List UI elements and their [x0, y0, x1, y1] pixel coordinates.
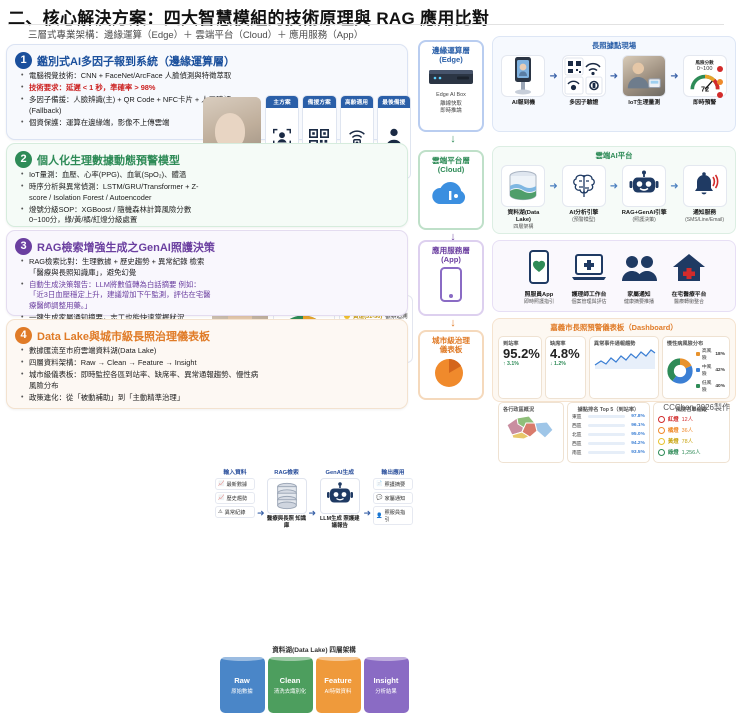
flow-arrow-icon: ➜ [309, 508, 317, 519]
kpi-delta: ↑ 3.1% [503, 361, 537, 367]
flow-arrow-icon: ➜ [549, 181, 557, 192]
bullet-dot-icon: • [21, 71, 29, 82]
cloud-step-sub: (SMS/Line/Email) [685, 217, 724, 223]
section-card-4: 4 Data Lake與城市級長照治理儀表板 •數據匯流至市府雲端資料湖(Dat… [6, 319, 408, 409]
brain-icon [562, 165, 606, 207]
rag-input-item: 📈最新數據 [215, 478, 255, 490]
app-item-sub: 即時照護指引 [524, 299, 554, 305]
app-item-sub: 個案管理與評估 [571, 299, 606, 305]
flow-arrow-icon: ➜ [670, 181, 678, 192]
pie-chart-icon [432, 357, 470, 389]
kpi-value: 95.2% [503, 347, 537, 361]
arrow-down-edge-to-cloud-icon: ↓ [448, 133, 458, 145]
rag-flow-diagram: 輸入資料 📈最新數據 📈歷史趨勢 ⚠異常紀錄 ➜ RAG檢索 [215, 467, 413, 541]
section-title-1: 鑑別式AI多因子報到系統（邊緣運算層） [37, 53, 235, 69]
cylinder-top [364, 654, 409, 661]
list-item: •電腦視覺技術：CNN + FaceNet/ArcFace 人臉偵測與特徵萃取 [21, 71, 259, 82]
bullet-dot-icon: • [21, 182, 29, 203]
cloud-step-sub: (預警模型) [572, 217, 595, 223]
panel-cloud-platform: 雲端AI平台 資料湖(Data Lake) 四層架構 ➜ [492, 146, 736, 234]
light-red-icon [717, 66, 723, 72]
table-row: 東區97.8% [572, 413, 645, 420]
table-row: 西區94.2% [572, 440, 645, 447]
cloud-step-datalake: 資料湖(Data Lake) 四層架構 [499, 165, 547, 230]
section-title-3: RAG檢索增強生成之GenAI照護決策 [37, 239, 215, 255]
bullet-dot-icon: • [21, 393, 29, 404]
edge-step-caption: 即時預警 [693, 100, 716, 107]
section-title-2: 個人化生理數據動態預警模型 [37, 152, 180, 168]
cloud-step-ai: AI分析引擎 (預警模型) [560, 165, 608, 223]
laptop-medical-icon [567, 247, 611, 289]
table-row: 北區95.0% [572, 431, 645, 438]
chart-icon: 📈 [218, 481, 224, 487]
svg-text:72: 72 [701, 85, 709, 92]
bullet-dot-icon: • [21, 370, 29, 391]
donut-legend-row: 高風險18% [696, 347, 725, 361]
light-orange-icon [717, 79, 723, 85]
edge-device-desc: 離線快取 即時推論 [440, 101, 462, 115]
bullet-dot-icon: • [21, 346, 29, 357]
cylinder-top [268, 654, 313, 661]
donut-legend-row: 低風險40% [696, 379, 725, 393]
cloud-flow-steps: 資料湖(Data Lake) 四層架構 ➜ AI分析引擎 (預警模型) ➜ [493, 161, 735, 230]
ranking-title: 據點排名 Top 5（到站率） [572, 406, 645, 413]
list-item: •時序分析與異常偵測：LSTM/GRU/Transformer + Z-scor… [21, 182, 213, 203]
rag-input-column: 輸入資料 📈最新數據 📈歷史趨勢 ⚠異常紀錄 [215, 467, 255, 520]
rag-generate-caption: LLM生成 照護建議報告 [318, 516, 361, 530]
trend-title: 異常事件通報趨勢 [594, 340, 654, 347]
section-number-2: 2 [15, 151, 32, 168]
app-item-nurse: 護理師工作台 個案管理與評估 [565, 247, 613, 305]
district-map-card: 各行政區概況 [498, 402, 564, 463]
section-bullets-4: •數據匯流至市府雲端資料湖(Data Lake) •四層資料架構：Raw → C… [21, 346, 259, 405]
layer-subtitle-edge: (Edge) [439, 55, 463, 64]
rag-input-title: 輸入資料 [223, 467, 246, 476]
robot-icon [622, 165, 666, 207]
list-item: 橘燈36人 [658, 426, 725, 434]
edge-ai-box-icon [427, 66, 475, 88]
bullet-text: RAG檢索比對：生理數據 + 歷史趨勢 + 異常紀錄 檢索「醫療與長照知識庫」，… [29, 257, 211, 278]
section-bullets-3: •RAG檢索比對：生理數據 + 歷史趨勢 + 異常紀錄 檢索「醫療與長照知識庫」… [21, 257, 211, 325]
light-yellow-icon [658, 438, 665, 445]
section-number-3: 3 [15, 238, 32, 255]
edge-step-caption: AI報到機 [512, 100, 535, 107]
rag-input-item: ⚠異常紀錄 [215, 506, 255, 518]
list-item: •技術要求：延遲 < 1 秒，準確率 > 98% [21, 83, 259, 94]
bullet-text: 技術要求：延遲 < 1 秒，準確率 > 98% [29, 83, 259, 94]
list-item: •政策進化：從「被動補助」到「主動精準治理」 [21, 393, 259, 404]
method-tag: 主方案 [266, 96, 298, 108]
list-item: •四層資料架構：Raw → Clean → Feature → Insight [21, 358, 259, 369]
section-bullets-2: •IoT量測：血壓、心率(PPG)、血氧(SpO₂)、體溫 •時序分析與異常偵測… [21, 170, 213, 227]
edge-step-alert: 風險分數 0~100 72 即時預警 [681, 55, 729, 107]
stage-name: Raw [234, 676, 250, 685]
list-item: 黃燈78人 [658, 437, 725, 445]
cloud-step-notify: 通知服務 (SMS/Line/Email) [681, 165, 729, 223]
edge-step-caption: 多因子驗證 [569, 100, 598, 107]
list-item: •IoT量測：血壓、心率(PPG)、血氧(SpO₂)、體溫 [21, 170, 213, 181]
message-icon: 💬 [376, 495, 382, 501]
qr-nfc-icon [562, 55, 606, 97]
ranking-card: 據點排名 Top 5（到站率） 東區97.8% 西區96.1% 北區95.0% … [567, 402, 650, 463]
layer-title-edge: 邊緣運算層 [432, 46, 470, 55]
section-card-1: 1 鑑別式AI多因子報到系統（邊緣運算層） •電腦視覺技術：CNN + Face… [6, 44, 408, 140]
layer-box-app: 應用服務層 (App) [418, 240, 484, 316]
layer-title-app: 應用服務層 [432, 246, 470, 255]
data-lake-diagram: 資料湖(Data Lake) 四層架構 Raw 原始數據 Clean 清洗去識別… [215, 644, 413, 724]
bullet-text: 自動生成決策報告：LLM將數值轉為白話摘要 例如：「近3日血壓穩定上升，建議增加… [29, 280, 211, 312]
bullet-dot-icon: • [21, 205, 29, 226]
alert-icon: ⚠ [218, 509, 223, 515]
layer-box-dashboard: 城市級治理 儀表板 [418, 330, 484, 400]
table-row: 西區96.1% [572, 422, 645, 429]
edge-device-label: Edge AI Box [436, 92, 466, 99]
list-item: •燈號分級SOP：XGBoost / 隨機森林計算風險分數 0~100分，綠/黃… [21, 205, 213, 226]
document-icon: 📄 [376, 481, 382, 487]
flow-arrow-icon: ➜ [610, 71, 618, 82]
page-title: 二、核心解決方案：四大智慧模組的技術原理與 RAG 應用比對 [8, 4, 732, 29]
list-item: •城市級儀表板：即時監控各區到站率、缺席率、異常通報趨勢、慢性病風險分布 [21, 370, 259, 391]
cloud-step-caption: 資料湖(Data Lake) [499, 210, 547, 224]
donut-chart-icon [667, 358, 693, 384]
stage-desc: 分析結果 [375, 687, 397, 695]
list-item: 紅燈12人 [658, 415, 725, 423]
bullet-text: 政策進化：從「被動補助」到「主動精準治理」 [29, 393, 259, 404]
flow-arrow-icon: ➜ [257, 508, 265, 519]
cloud-step-caption: 通知服務 [693, 210, 716, 217]
layer-subtitle-dashboard: 儀表板 [440, 345, 463, 354]
stage-name: Insight [374, 676, 399, 685]
list-item: •RAG檢索比對：生理數據 + 歷史趨勢 + 異常紀錄 檢索「醫療與長照知識庫」… [21, 257, 211, 278]
edge-step-caption: IoT生理量測 [628, 100, 660, 107]
edge-step-multifactor: 多因子驗證 [560, 55, 608, 107]
family-icon [617, 247, 661, 289]
light-red2-icon [717, 92, 723, 98]
alert-lights [717, 66, 723, 98]
flow-arrow-icon: ➜ [363, 508, 371, 519]
rag-retrieve-column: RAG檢索 醫療與長照 知識庫 [267, 467, 307, 530]
cloud-icon [428, 178, 474, 210]
bell-icon [683, 165, 727, 207]
edge-step-kiosk: AI報到機 [499, 55, 547, 107]
app-item-caregiver: 照服員App 即時照護指引 [515, 247, 563, 305]
layer-box-edge: 邊緣運算層 (Edge) Edge AI Box 離線快取 即時推論 [418, 40, 484, 132]
list-item: •自動生成決策報告：LLM將數值轉為白話摘要 例如：「近3日血壓穩定上升，建議增… [21, 280, 211, 312]
infographic-page: 二、核心解決方案：四大智慧模組的技術原理與 RAG 應用比對 三層式專業架構：邊… [0, 0, 740, 416]
flow-arrow-icon: ➜ [610, 181, 618, 192]
flow-arrow-icon: ➜ [549, 71, 557, 82]
bullet-text: 電腦視覺技術：CNN + FaceNet/ArcFace 人臉偵測與特徵萃取 [29, 71, 259, 82]
bullet-dot-icon: • [21, 358, 29, 369]
cylinder-top [316, 654, 361, 661]
lake-stage-raw: Raw 原始數據 [220, 657, 265, 713]
dashboard-top-row: 到站率 95.2% ↑ 3.1% 缺席率 4.8% ↓ 1.2% 異常事件通報趨… [493, 333, 735, 399]
stage-desc: 清洗去識別化 [274, 687, 306, 695]
bullet-text: IoT量測：血壓、心率(PPG)、血氧(SpO₂)、體溫 [29, 170, 213, 181]
rag-output-item: 💬家屬通知 [373, 492, 413, 504]
flow-arrow-icon: ➜ [670, 71, 678, 82]
line-chart-icon [594, 347, 656, 369]
cloud-step-sub: (照護決策) [633, 217, 656, 223]
rag-retrieve-caption: 醫療與長照 知識庫 [267, 516, 307, 530]
data-lake-title: 資料湖(Data Lake) 四層架構 [215, 644, 413, 654]
kpi-value: 4.8% [550, 347, 581, 361]
layer-subtitle-cloud: (Cloud) [438, 165, 465, 174]
rag-output-item: 👤照服員指引 [373, 506, 413, 525]
stage-desc: 原始數據 [231, 687, 253, 695]
rag-output-column: 輸出應用 📄照護摘要 💬家屬通知 👤照服員指引 [373, 467, 413, 527]
lake-stage-clean: Clean 清洗去識別化 [268, 657, 313, 713]
trend-chart-card: 異常事件通報趨勢 [589, 336, 659, 399]
cylinder-top [220, 654, 265, 661]
rag-input-item: 📈歷史趨勢 [215, 492, 255, 504]
light-red-icon [658, 416, 665, 423]
ranking-rows: 東區97.8% 西區96.1% 北區95.0% 西區94.2% 南區93.5% [572, 413, 645, 456]
bullet-text: 四層資料架構：Raw → Clean → Feature → Insight [29, 358, 259, 369]
list-item: 綠燈1,256人 [658, 448, 725, 456]
app-item-sub: 醫療轉銜整合 [674, 299, 704, 305]
smartphone-icon [438, 267, 464, 303]
app-item-home-medical: 在宅醫療平台 醫療轉銜整合 [665, 247, 713, 305]
edge-flow-steps: AI報到機 ➜ [493, 51, 735, 107]
light-orange-icon [658, 427, 665, 434]
rag-output-item: 📄照護摘要 [373, 478, 413, 490]
cloud-step-sub: 四層架構 [513, 224, 533, 230]
robot-icon [320, 478, 360, 514]
rag-generate-title: GenAI生成 [325, 467, 354, 476]
section-title-4: Data Lake與城市級長照治理儀表板 [37, 328, 210, 344]
stage-name: Feature [324, 676, 351, 685]
method-tag: 高齡適用 [341, 96, 373, 108]
rag-output-title: 輸出應用 [381, 467, 404, 476]
chart-icon: 📈 [218, 495, 224, 501]
bullet-dot-icon: • [21, 83, 29, 94]
database-icon [267, 478, 307, 514]
section-card-2: 2 個人化生理數據動態預警模型 •IoT量測：血壓、心率(PPG)、血氧(SpO… [6, 143, 408, 227]
layer-box-cloud: 雲端平台層 (Cloud) [418, 150, 484, 230]
kpi-delta: ↓ 1.2% [550, 361, 581, 367]
bullet-dot-icon: • [21, 118, 29, 129]
kpi-absence: 缺席率 4.8% ↓ 1.2% [545, 336, 586, 399]
roster-rows: 紅燈12人 橘燈36人 黃燈78人 綠燈1,256人 [658, 413, 725, 456]
rag-retrieve-title: RAG檢索 [274, 467, 298, 476]
credit-text: CCChen 2026製作 [663, 402, 730, 413]
donut-title: 慢性病風險分布 [667, 340, 725, 347]
donut-chart-card: 慢性病風險分布 高風險18% 中風險42% 低風險40% [662, 336, 730, 399]
bullet-dot-icon: • [21, 280, 29, 312]
method-tag: 最後備援 [378, 96, 410, 108]
panel-dashboard: 嘉義市長照預警儀表板（Dashboard） 到站率 95.2% ↑ 3.1% 缺… [492, 318, 736, 402]
rag-generate-column: GenAI生成 LLM生成 照護建議報告 [318, 467, 361, 530]
stage-name: Clean [280, 676, 301, 685]
map-title: 各行政區概況 [503, 406, 559, 413]
panel-edge-site: 長照據點現場 AI報到機 ➜ [492, 36, 736, 132]
bullet-text: 數據匯流至市府雲端資料湖(Data Lake) [29, 346, 259, 357]
layer-title-dashboard: 城市級治理 [432, 336, 470, 345]
bullet-text: 城市級儀表板：即時監控各區到站率、缺席率、異常通報趨勢、慢性病風險分布 [29, 370, 259, 391]
lake-stage-insight: Insight 分析結果 [364, 657, 409, 713]
person-icon: 👤 [376, 513, 382, 519]
kiosk-icon [501, 55, 545, 97]
panel-title-edge: 長照據點現場 [493, 37, 735, 51]
home-medical-icon [667, 247, 711, 289]
bullet-dot-icon: • [21, 257, 29, 278]
bullet-text: 時序分析與異常偵測：LSTM/GRU/Transformer + Z-score… [29, 182, 213, 203]
section-card-3: 3 RAG檢索增強生成之GenAI照護決策 •RAG檢索比對：生理數據 + 歷史… [6, 230, 408, 316]
edge-step-iot: IoT生理量測 [620, 55, 668, 107]
bp-monitor-icon [622, 55, 666, 97]
title-divider [8, 24, 724, 25]
app-service-items: 照服員App 即時照護指引 護理師工作台 個案管理與評估 [493, 241, 735, 305]
data-lake-icon [501, 165, 545, 207]
panel-title-cloud: 雲端AI平台 [493, 147, 735, 161]
lake-stage-feature: Feature AI特徵資料 [316, 657, 361, 713]
section-number-4: 4 [15, 327, 32, 344]
data-lake-stages: Raw 原始數據 Clean 清洗去識別化 Feature AI特徵資料 Ins… [215, 657, 413, 713]
method-tag: 備援方案 [303, 96, 335, 108]
table-row: 南區93.5% [572, 449, 645, 456]
bullet-dot-icon: • [21, 95, 29, 116]
bullet-text: 燈號分級SOP：XGBoost / 隨機森林計算風險分數 0~100分，綠/黃/… [29, 205, 213, 226]
risk-gauge-card-edge: 風險分數 0~100 72 [683, 55, 727, 97]
phone-heart-icon [517, 247, 561, 289]
list-item: •數據匯流至市府雲端資料湖(Data Lake) [21, 346, 259, 357]
section-number-1: 1 [15, 52, 32, 69]
cloud-step-rag: RAG+GenAI引擎 (照護決策) [620, 165, 668, 223]
stage-desc: AI特徵資料 [325, 687, 352, 695]
district-map-icon [503, 413, 561, 439]
light-green-icon [658, 449, 665, 456]
app-item-family: 家屬通知 健康摘要推播 [615, 247, 663, 305]
panel-title-dashboard: 嘉義市長照預警儀表板（Dashboard） [493, 319, 735, 333]
arrow-down-app-to-dashboard-icon: ↓ [448, 317, 458, 329]
kpi-attendance: 到站率 95.2% ↑ 3.1% [498, 336, 542, 399]
donut-legend-row: 中風險42% [696, 363, 725, 377]
bullet-dot-icon: • [21, 170, 29, 181]
panel-app-services: 照服員App 即時照護指引 護理師工作台 個案管理與評估 [492, 240, 736, 312]
app-item-sub: 健康摘要推播 [624, 299, 654, 305]
layer-title-cloud: 雲端平台層 [432, 156, 470, 165]
layer-subtitle-app: (App) [441, 255, 461, 264]
